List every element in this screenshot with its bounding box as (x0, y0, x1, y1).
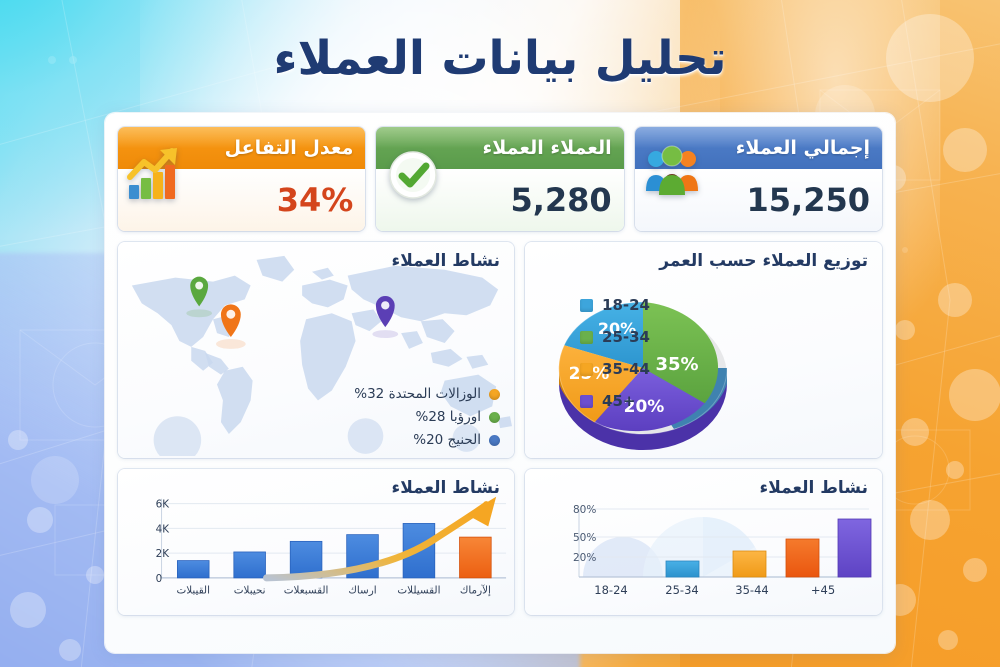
bar-18-24 (666, 561, 699, 577)
bar-6 (460, 537, 492, 578)
middle-panel-row: توزيع العملاء حسب العمر (118, 242, 882, 458)
pie-label-25-34: 35% (655, 354, 698, 375)
y-tick-20: 20% (573, 552, 596, 564)
pie-legend-swatch-35-44 (580, 363, 593, 376)
bar-25-34 (733, 551, 766, 577)
panel-geo-activity: نشاط العملاء (118, 242, 514, 458)
x-tick-labels: القيبلات نحيبلات القسبعلات ارساك القسيلل… (177, 584, 492, 597)
kpi-card-active-customers[interactable]: العملاء العملاء 5,280 (376, 127, 623, 231)
x-tick-2: نحيبلات (234, 585, 266, 597)
x-tick-labels: 18-24 25-34 35-44 45+ (594, 583, 835, 597)
map-legend-dot-asia (489, 435, 500, 446)
pie-legend: 18-24 25-34 35-44 45+ (580, 296, 650, 410)
x-tick-5: القسيللات (397, 585, 440, 597)
x-tick-45plus: 45+ (811, 583, 835, 597)
map-legend-item-asia[interactable]: الحنيج 20% (354, 432, 500, 448)
panel-activity-by-age: نشاط العملاء (525, 469, 882, 615)
marker-canada[interactable] (190, 277, 208, 307)
y-tick-50: 50% (573, 532, 596, 544)
map-legend-dot-us (489, 389, 500, 400)
bottom-panel-row: نشاط العملاء (118, 469, 882, 615)
people-group-icon (644, 145, 700, 207)
map-legend: الوزالات المحتدة 32% اورؤبا 28% الحنيج 2… (354, 386, 500, 448)
pie-legend-swatch-45plus (580, 395, 593, 408)
bar-2 (234, 552, 266, 578)
pie-legend-label-25-34: 25-34 (602, 328, 650, 346)
x-tick-25-34: 25-34 (665, 583, 698, 597)
page-title: تحليل بيانات العملاء (0, 33, 1000, 85)
map-legend-label-us: الوزالات المحتدة 32% (354, 386, 481, 402)
pie-legend-label-18-24: 18-24 (602, 296, 650, 314)
x-tick-35-44: 35-44 (735, 583, 768, 597)
check-circle-icon (385, 145, 441, 207)
y-tick-80: 80% (573, 504, 596, 516)
x-tick-3: القسبعلات (284, 585, 329, 597)
y-tick-0: 0 (156, 573, 163, 585)
panel-title-activity-by-age: نشاط العملاء (760, 478, 868, 498)
pie-legend-item-25-34[interactable]: 25-34 (580, 328, 650, 346)
panel-activity-trend: نشاط العملاء (118, 469, 514, 615)
pie-legend-item-18-24[interactable]: 18-24 (580, 296, 650, 314)
map-legend-label-europe: اورؤبا 28% (416, 409, 482, 425)
pie-legend-label-35-44: 35-44 (602, 360, 650, 378)
pie-legend-item-35-44[interactable]: 35-44 (580, 360, 650, 378)
map-legend-item-europe[interactable]: اورؤبا 28% (354, 409, 500, 425)
y-tick-2k: 2K (156, 548, 171, 560)
x-tick-18-24: 18-24 (594, 583, 627, 597)
x-tick-4: ارساك (348, 585, 376, 597)
kpi-row: إجمالي العملاء 15,250 العملاء العملاء 5,… (118, 127, 882, 231)
panel-title-age-distribution: توزيع العملاء حسب العمر (659, 251, 868, 271)
pie-legend-swatch-25-34 (580, 331, 593, 344)
marker-usa[interactable] (221, 304, 241, 337)
x-tick-1: القيبلات (177, 585, 211, 597)
map-legend-dot-europe (489, 412, 500, 423)
y-tick-6k: 6K (156, 499, 171, 511)
bar-35-44 (786, 539, 819, 577)
dashboard-sheet: إجمالي العملاء 15,250 العملاء العملاء 5,… (105, 113, 895, 653)
map-legend-item-us[interactable]: الوزالات المحتدة 32% (354, 386, 500, 402)
y-tick-4k: 4K (156, 523, 171, 535)
map-legend-label-asia: الحنيج 20% (413, 432, 481, 448)
bar-1 (177, 561, 209, 578)
panel-age-distribution: توزيع العملاء حسب العمر (525, 242, 882, 458)
panel-title-geo-activity: نشاط العملاء (392, 251, 500, 271)
kpi-card-engagement-rate[interactable]: معدل التفاعل 34% (118, 127, 365, 231)
x-tick-6: إلآرماك (460, 584, 491, 597)
pie-legend-label-45plus: 45+ (602, 392, 635, 410)
kpi-card-total-customers[interactable]: إجمالي العملاء 15,250 (635, 127, 882, 231)
pie-legend-item-45plus[interactable]: 45+ (580, 392, 650, 410)
gridlines (162, 504, 506, 578)
panel-title-activity-trend: نشاط العملاء (392, 478, 500, 498)
growth-chart-arrow-icon (127, 145, 183, 207)
marker-asia[interactable] (376, 296, 395, 327)
pie-legend-swatch-18-24 (580, 299, 593, 312)
bar-45plus (838, 519, 871, 577)
